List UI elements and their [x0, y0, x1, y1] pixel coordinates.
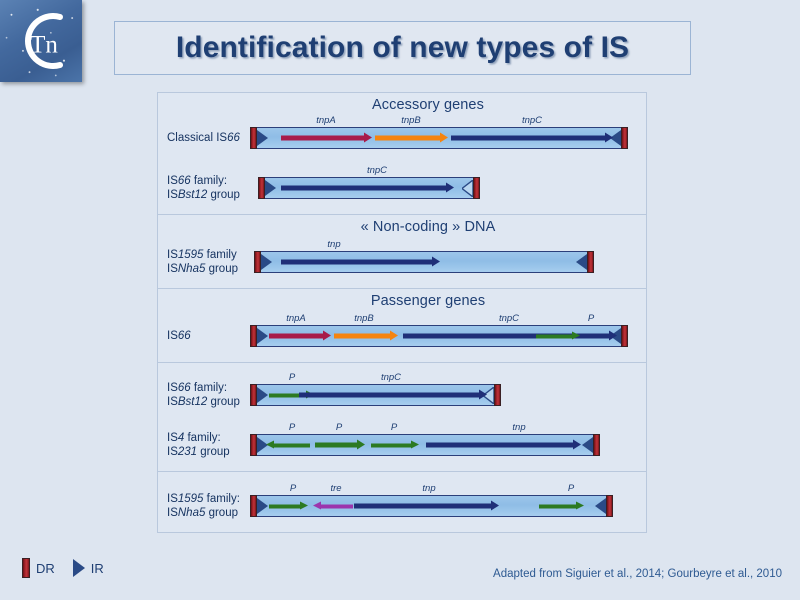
gene-arrow-head [432, 257, 440, 267]
panel-spacer [158, 363, 646, 371]
gene-label-p: P [391, 422, 397, 433]
inverted-repeat-left [257, 498, 268, 514]
inverted-repeat-right [576, 254, 587, 270]
gene-label-tnpc: tnpC [381, 372, 401, 383]
legend-label-ir: IR [91, 561, 104, 576]
gene-arrow-tnp [281, 257, 440, 268]
gene-label-tnpa: tnpA [316, 115, 336, 126]
gene-arrow-head [440, 133, 448, 143]
is-element-bar: PtnpC [250, 384, 501, 406]
direct-repeat-right [606, 495, 613, 517]
direct-repeat-left [250, 325, 257, 347]
panel-title: Passenger genes [158, 289, 646, 310]
gene-arrow-p [371, 441, 419, 450]
gene-arrow-head [576, 502, 584, 510]
gene-arrow-shaft [354, 504, 491, 509]
gene-label-tnpc: tnpC [522, 115, 542, 126]
gene-label-tnpc: tnpC [499, 313, 519, 324]
gene-arrow-shaft [281, 136, 364, 141]
gene-arrow-p [266, 441, 310, 450]
gene-arrow-tnpc [451, 133, 613, 144]
row-label: IS66 family:ISBst12 group [167, 174, 240, 202]
panel-accessory-genes: Accessory genesClassical IS66tnpAtnpBtnp… [157, 92, 647, 215]
gene-arrow-tnpb [375, 133, 448, 144]
gene-arrow-head [573, 440, 581, 450]
panel-spacer [158, 472, 646, 480]
gene-arrow-tnpb [334, 331, 398, 342]
gene-arrow-tnpa [281, 133, 372, 144]
panel-group-3: IS66 family:ISBst12 groupPtnpCIS4 family… [157, 363, 647, 472]
gene-arrow-tnp [354, 501, 499, 512]
gene-arrow-shaft [371, 443, 411, 447]
gene-arrow-p [539, 502, 584, 511]
panel-group-4: IS1595 family:ISNha5 groupPtretnpP [157, 472, 647, 533]
inverted-repeat-left [257, 130, 268, 146]
page-title: Identification of new types of IS [176, 31, 629, 65]
citation: Adapted from Siguier et al., 2014; Gourb… [493, 568, 782, 580]
gene-arrow-head [313, 502, 321, 510]
gene-arrow-shaft [451, 136, 605, 141]
gene-arrow-head [605, 133, 613, 143]
direct-repeat-icon [22, 558, 30, 578]
panel-title: « Non-coding » DNA [158, 215, 646, 236]
is-element-row: Classical IS66tnpAtnpBtnpC [158, 114, 646, 162]
diagram-panels: Accessory genesClassical IS66tnpAtnpBtnp… [157, 92, 647, 533]
gene-label-p: P [568, 483, 574, 494]
panel-title: Accessory genes [158, 93, 646, 114]
direct-repeat-left [250, 495, 257, 517]
gene-arrow-head [491, 501, 499, 511]
legend-item-dr: DR [22, 558, 55, 578]
gene-arrow-tnpa [269, 331, 331, 342]
gene-arrow-shaft [536, 334, 572, 338]
legend-label-dr: DR [36, 561, 55, 576]
gene-label-tre: tre [330, 483, 341, 494]
is-element-row: IS66 family:ISBst12 groupPtnpC [158, 371, 646, 419]
ctn-logo: Tn [0, 0, 82, 82]
gene-arrow-shaft [375, 136, 440, 141]
gene-arrow-tnpc [403, 331, 617, 342]
is-element-bar: PtretnpP [250, 495, 613, 517]
gene-label-tnpa: tnpA [286, 313, 306, 324]
gene-arrow-shaft [426, 443, 573, 448]
gene-arrow-shaft [334, 334, 390, 339]
is-element-row: IS66 family:ISBst12 grouptnpC [158, 162, 646, 214]
is-element-row: IS66tnpAtnpBtnpCP [158, 310, 646, 362]
gene-label-p: P [336, 422, 342, 433]
gene-arrow-p [536, 332, 580, 341]
direct-repeat-right [473, 177, 480, 199]
legend-item-ir: IR [73, 559, 104, 577]
direct-repeat-left [258, 177, 265, 199]
gene-label-tnpb: tnpB [401, 115, 421, 126]
gene-arrow-shaft [315, 443, 357, 448]
gene-arrow-head [411, 441, 419, 449]
legend: DR IR [22, 558, 104, 578]
is-element-row: IS4 family:IS231 groupPPPtnp [158, 419, 646, 471]
is-element-row: IS1595 family:ISNha5 groupPtretnpP [158, 480, 646, 532]
gene-arrow-shaft [281, 186, 446, 191]
inverted-repeat-right-hollow [462, 180, 473, 197]
gene-label-p: P [290, 483, 296, 494]
gene-arrow-head [572, 332, 580, 340]
gene-arrow-tre [313, 502, 353, 511]
row-label: IS4 family:IS231 group [167, 431, 230, 459]
inverted-repeat-left [265, 180, 276, 196]
gene-arrow-tnpc [299, 390, 487, 401]
gene-arrow-shaft [321, 504, 353, 508]
inverted-repeat-right [595, 498, 606, 514]
inverted-repeat-icon [73, 559, 85, 577]
row-label: IS1595 familyISNha5 group [167, 248, 238, 276]
is-element-row: IS1595 familyISNha5 grouptnp [158, 236, 646, 288]
svg-text:Tn: Tn [30, 32, 58, 59]
panel-passenger-genes: Passenger genesIS66tnpAtnpBtnpCP [157, 289, 647, 363]
gene-arrow-head [364, 133, 372, 143]
gene-arrow-head [300, 502, 308, 510]
gene-arrow-p [315, 440, 365, 451]
row-label: Classical IS66 [167, 131, 240, 145]
is-element-bar: tnpAtnpBtnpC [250, 127, 628, 149]
ctn-logo-mark: Tn [0, 0, 82, 82]
gene-arrow-shaft [269, 334, 323, 339]
gene-arrow-shaft [281, 260, 432, 265]
inverted-repeat-right [582, 437, 593, 453]
is-element-bar: PPPtnp [250, 434, 600, 456]
inverted-repeat-left [261, 254, 272, 270]
direct-repeat-right [587, 251, 594, 273]
panel-non-coding-dna: « Non-coding » DNAIS1595 familyISNha5 gr… [157, 215, 647, 289]
inverted-repeat-left [257, 328, 268, 344]
gene-label-p: P [588, 313, 594, 324]
gene-label-tnp: tnp [422, 483, 435, 494]
gene-arrow-tnp [426, 440, 581, 451]
inverted-repeat-left [257, 387, 268, 403]
gene-arrow-tnpc [281, 183, 454, 194]
direct-repeat-right [621, 325, 628, 347]
direct-repeat-left [250, 127, 257, 149]
direct-repeat-left [250, 434, 257, 456]
row-label: IS1595 family:ISNha5 group [167, 492, 240, 520]
gene-arrow-shaft [299, 393, 479, 398]
gene-arrow-shaft [269, 504, 300, 508]
gene-arrow-head [446, 183, 454, 193]
direct-repeat-left [250, 384, 257, 406]
direct-repeat-right [593, 434, 600, 456]
gene-arrow-shaft [539, 504, 576, 508]
gene-label-tnp: tnp [327, 239, 340, 250]
gene-label-tnpb: tnpB [354, 313, 374, 324]
is-element-bar: tnp [254, 251, 594, 273]
is-element-bar: tnpC [258, 177, 480, 199]
direct-repeat-right [494, 384, 501, 406]
row-label: IS66 [167, 329, 191, 343]
gene-arrow-head [609, 331, 617, 341]
gene-label-tnpc: tnpC [367, 165, 387, 176]
gene-arrow-head [357, 440, 365, 450]
row-label: IS66 family:ISBst12 group [167, 381, 240, 409]
gene-arrow-p [269, 502, 308, 511]
is-element-bar: tnpAtnpBtnpCP [250, 325, 628, 347]
gene-arrow-head [323, 331, 331, 341]
gene-label-p: P [289, 372, 295, 383]
gene-arrow-head [479, 390, 487, 400]
gene-label-tnp: tnp [512, 422, 525, 433]
direct-repeat-right [621, 127, 628, 149]
slide-title-box: Identification of new types of IS [114, 21, 691, 75]
direct-repeat-left [254, 251, 261, 273]
gene-arrow-head [266, 441, 274, 449]
gene-arrow-head [390, 331, 398, 341]
gene-arrow-shaft [274, 443, 310, 447]
gene-label-p: P [289, 422, 295, 433]
